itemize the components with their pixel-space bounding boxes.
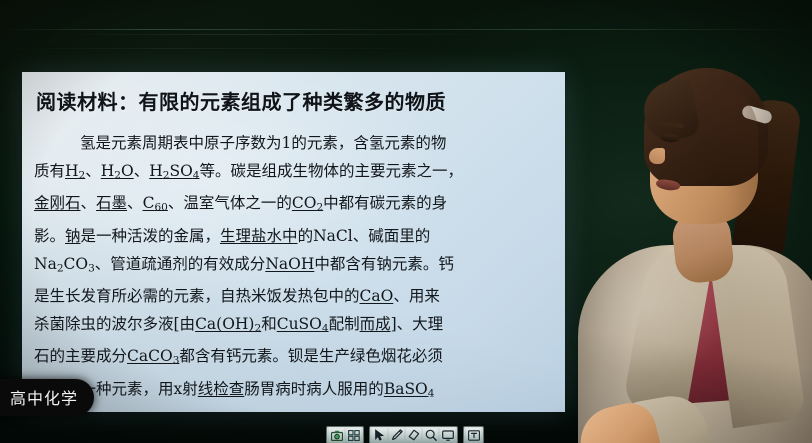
presenter (600, 30, 812, 443)
eraser-icon[interactable] (406, 428, 421, 442)
toolbar-group-text[interactable] (463, 426, 484, 443)
slide-body-line: 添加的一种元素，用x射线检查肠胃病时病人服用的BaSO4 (34, 375, 553, 407)
slide-body-line: Na2CO3、管道疏通剂的有效成分NaOH中都含有钠元素。钙 (34, 250, 553, 282)
magnifier-icon[interactable] (423, 428, 438, 442)
video-frame: 阅读材料：有限的元素组成了种类繁多的物质 氢是元素周期表中原子序数为1的元素，含… (0, 0, 812, 443)
annotation-toolbar[interactable] (326, 426, 484, 443)
slide-body-line: 是生长发育所必需的元素，自热米饭发热包中的CaO、用来 (34, 282, 553, 310)
slide-body-line: 影。钠是一种活泼的金属，生理盐水中的NaCl、碱面里的 (34, 222, 553, 250)
pen-icon[interactable] (389, 428, 404, 442)
slide-title: 阅读材料：有限的元素组成了种类繁多的物质 (36, 86, 565, 115)
slide-body-line: 金刚石、石墨、C60、温室气体之一的CO2中都有碳元素的身 (34, 189, 553, 221)
slide-body-line: 浊液(俗称钡餐)当中也含有钡元素…… (34, 407, 553, 412)
camera-icon[interactable] (329, 428, 344, 442)
projected-slide: 阅读材料：有限的元素组成了种类繁多的物质 氢是元素周期表中原子序数为1的元素，含… (22, 72, 565, 412)
nose (649, 148, 665, 164)
slide-body-line: 质有H2、H2O、H2SO4等。碳是组成生物体的主要元素之一， (34, 157, 553, 189)
toolbar-group-capture[interactable] (326, 426, 364, 443)
channel-watermark: 高中化学 (0, 379, 94, 416)
slide-body-line: 杀菌除虫的波尔多液[由Ca(OH)2和CuSO4配制而成]、大理 (34, 310, 553, 342)
cursor-icon[interactable] (372, 428, 387, 442)
slide-body-line: 氢是元素周期表中原子序数为1的元素，含氢元素的物 (34, 129, 553, 157)
grid-icon[interactable] (346, 428, 361, 442)
face-shading (650, 82, 758, 224)
toolbar-group-annotate[interactable] (369, 426, 458, 443)
slide-body-line: 石的主要成分CaCO3都含有钙元素。钡是生产绿色烟花必须 (34, 342, 553, 374)
screen-icon[interactable] (440, 428, 455, 442)
slide-body-text: 氢是元素周期表中原子序数为1的元素，含氢元素的物 质有H2、H2O、H2SO4等… (34, 129, 553, 412)
textbox-icon[interactable] (466, 428, 481, 442)
watermark-label: 高中化学 (10, 389, 78, 408)
